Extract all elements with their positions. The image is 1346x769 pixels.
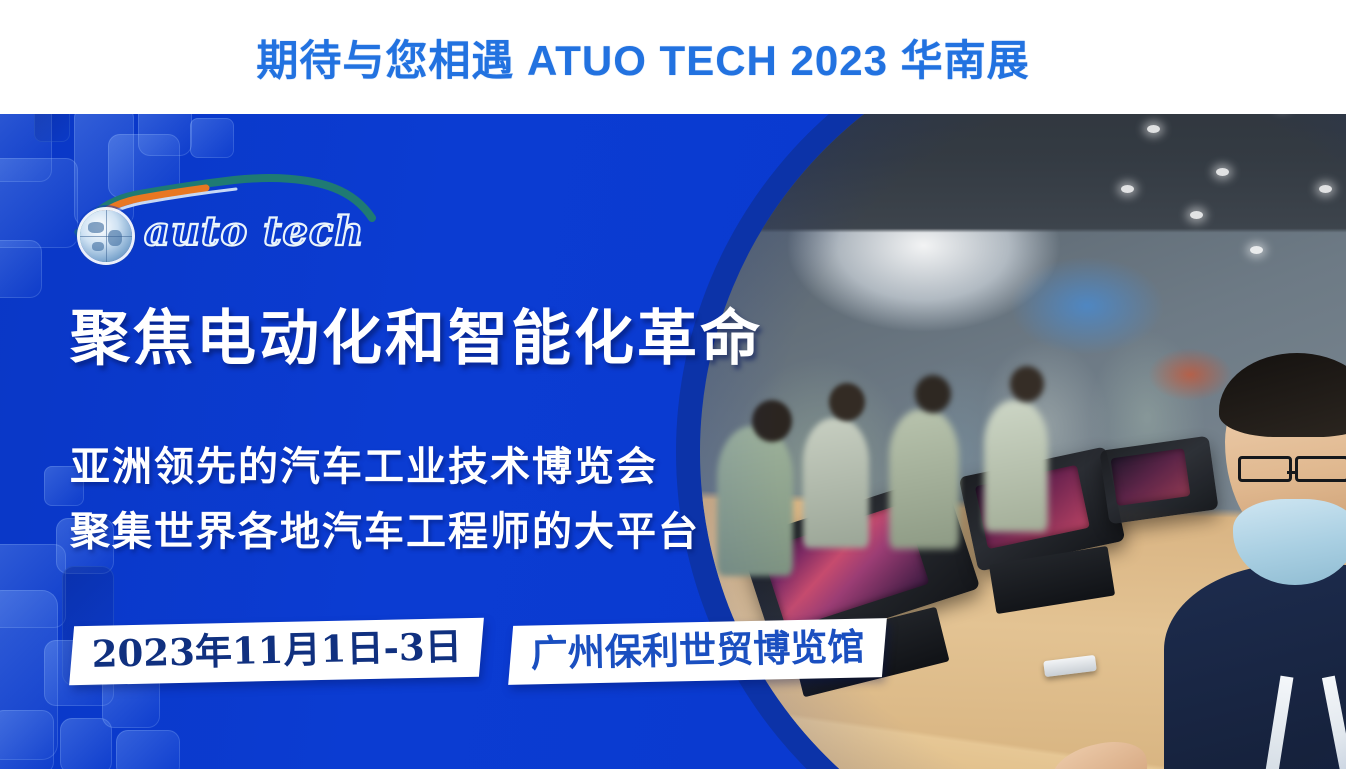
eyeglasses-icon <box>1295 456 1346 482</box>
ceiling-light-icon <box>1216 168 1229 176</box>
ceiling-light-icon <box>1121 185 1134 193</box>
eyeglasses-bridge <box>1287 471 1297 474</box>
date-badge: 2023年11月1日-3日 <box>69 618 484 686</box>
visitor-hair <box>1219 353 1346 437</box>
background-visitor-head <box>1010 366 1044 402</box>
brand-wordmark: auto tech <box>144 208 364 255</box>
background-visitor <box>889 409 959 549</box>
background-visitor <box>803 418 869 548</box>
eyeglasses-icon <box>1238 456 1292 482</box>
globe-icon <box>80 210 132 262</box>
ceiling-light-icon <box>1190 211 1203 219</box>
ceiling-light-icon <box>1250 246 1263 254</box>
hero-subtitle-line-1: 亚洲领先的汽车工业技术博览会 <box>70 434 658 492</box>
hero-subtitle-line-2: 聚集世界各地汽车工程师的大平台 <box>70 499 700 557</box>
display-screen <box>1111 449 1191 507</box>
remote-device <box>1043 655 1097 677</box>
hero-content: auto tech 聚焦电动化和智能化革命 亚洲领先的汽车工业技术博览会 聚集世… <box>0 114 800 769</box>
venue-badge-text: 广州保利世贸博览馆 <box>531 627 866 675</box>
background-visitor-head <box>829 383 865 421</box>
venue-badge: 广州保利世贸博览馆 <box>508 618 887 685</box>
ceiling-light-icon <box>1147 125 1160 133</box>
hero-headline: 聚焦电动化和智能化革命 <box>70 290 763 377</box>
page-title: 期待与您相遇 ATUO TECH 2023 华南展 <box>256 27 1029 88</box>
ceiling-light-icon <box>1319 185 1332 193</box>
banner-body: auto tech 聚焦电动化和智能化革命 亚洲领先的汽车工业技术博览会 聚集世… <box>0 114 1346 769</box>
date-badge-text: 2023年11月1日-3日 <box>91 626 462 675</box>
in-car-display-unit <box>1100 436 1219 525</box>
badge-row: 2023年11月1日-3日 广州保利世贸博览馆 <box>72 622 884 681</box>
visitor-body <box>1164 564 1346 769</box>
brand-logo[interactable]: auto tech <box>72 172 382 267</box>
pointing-hand <box>1047 734 1155 769</box>
background-visitor <box>984 400 1048 532</box>
background-visitor-head <box>915 375 951 413</box>
header-band: 期待与您相遇 ATUO TECH 2023 华南展 <box>0 0 1346 114</box>
